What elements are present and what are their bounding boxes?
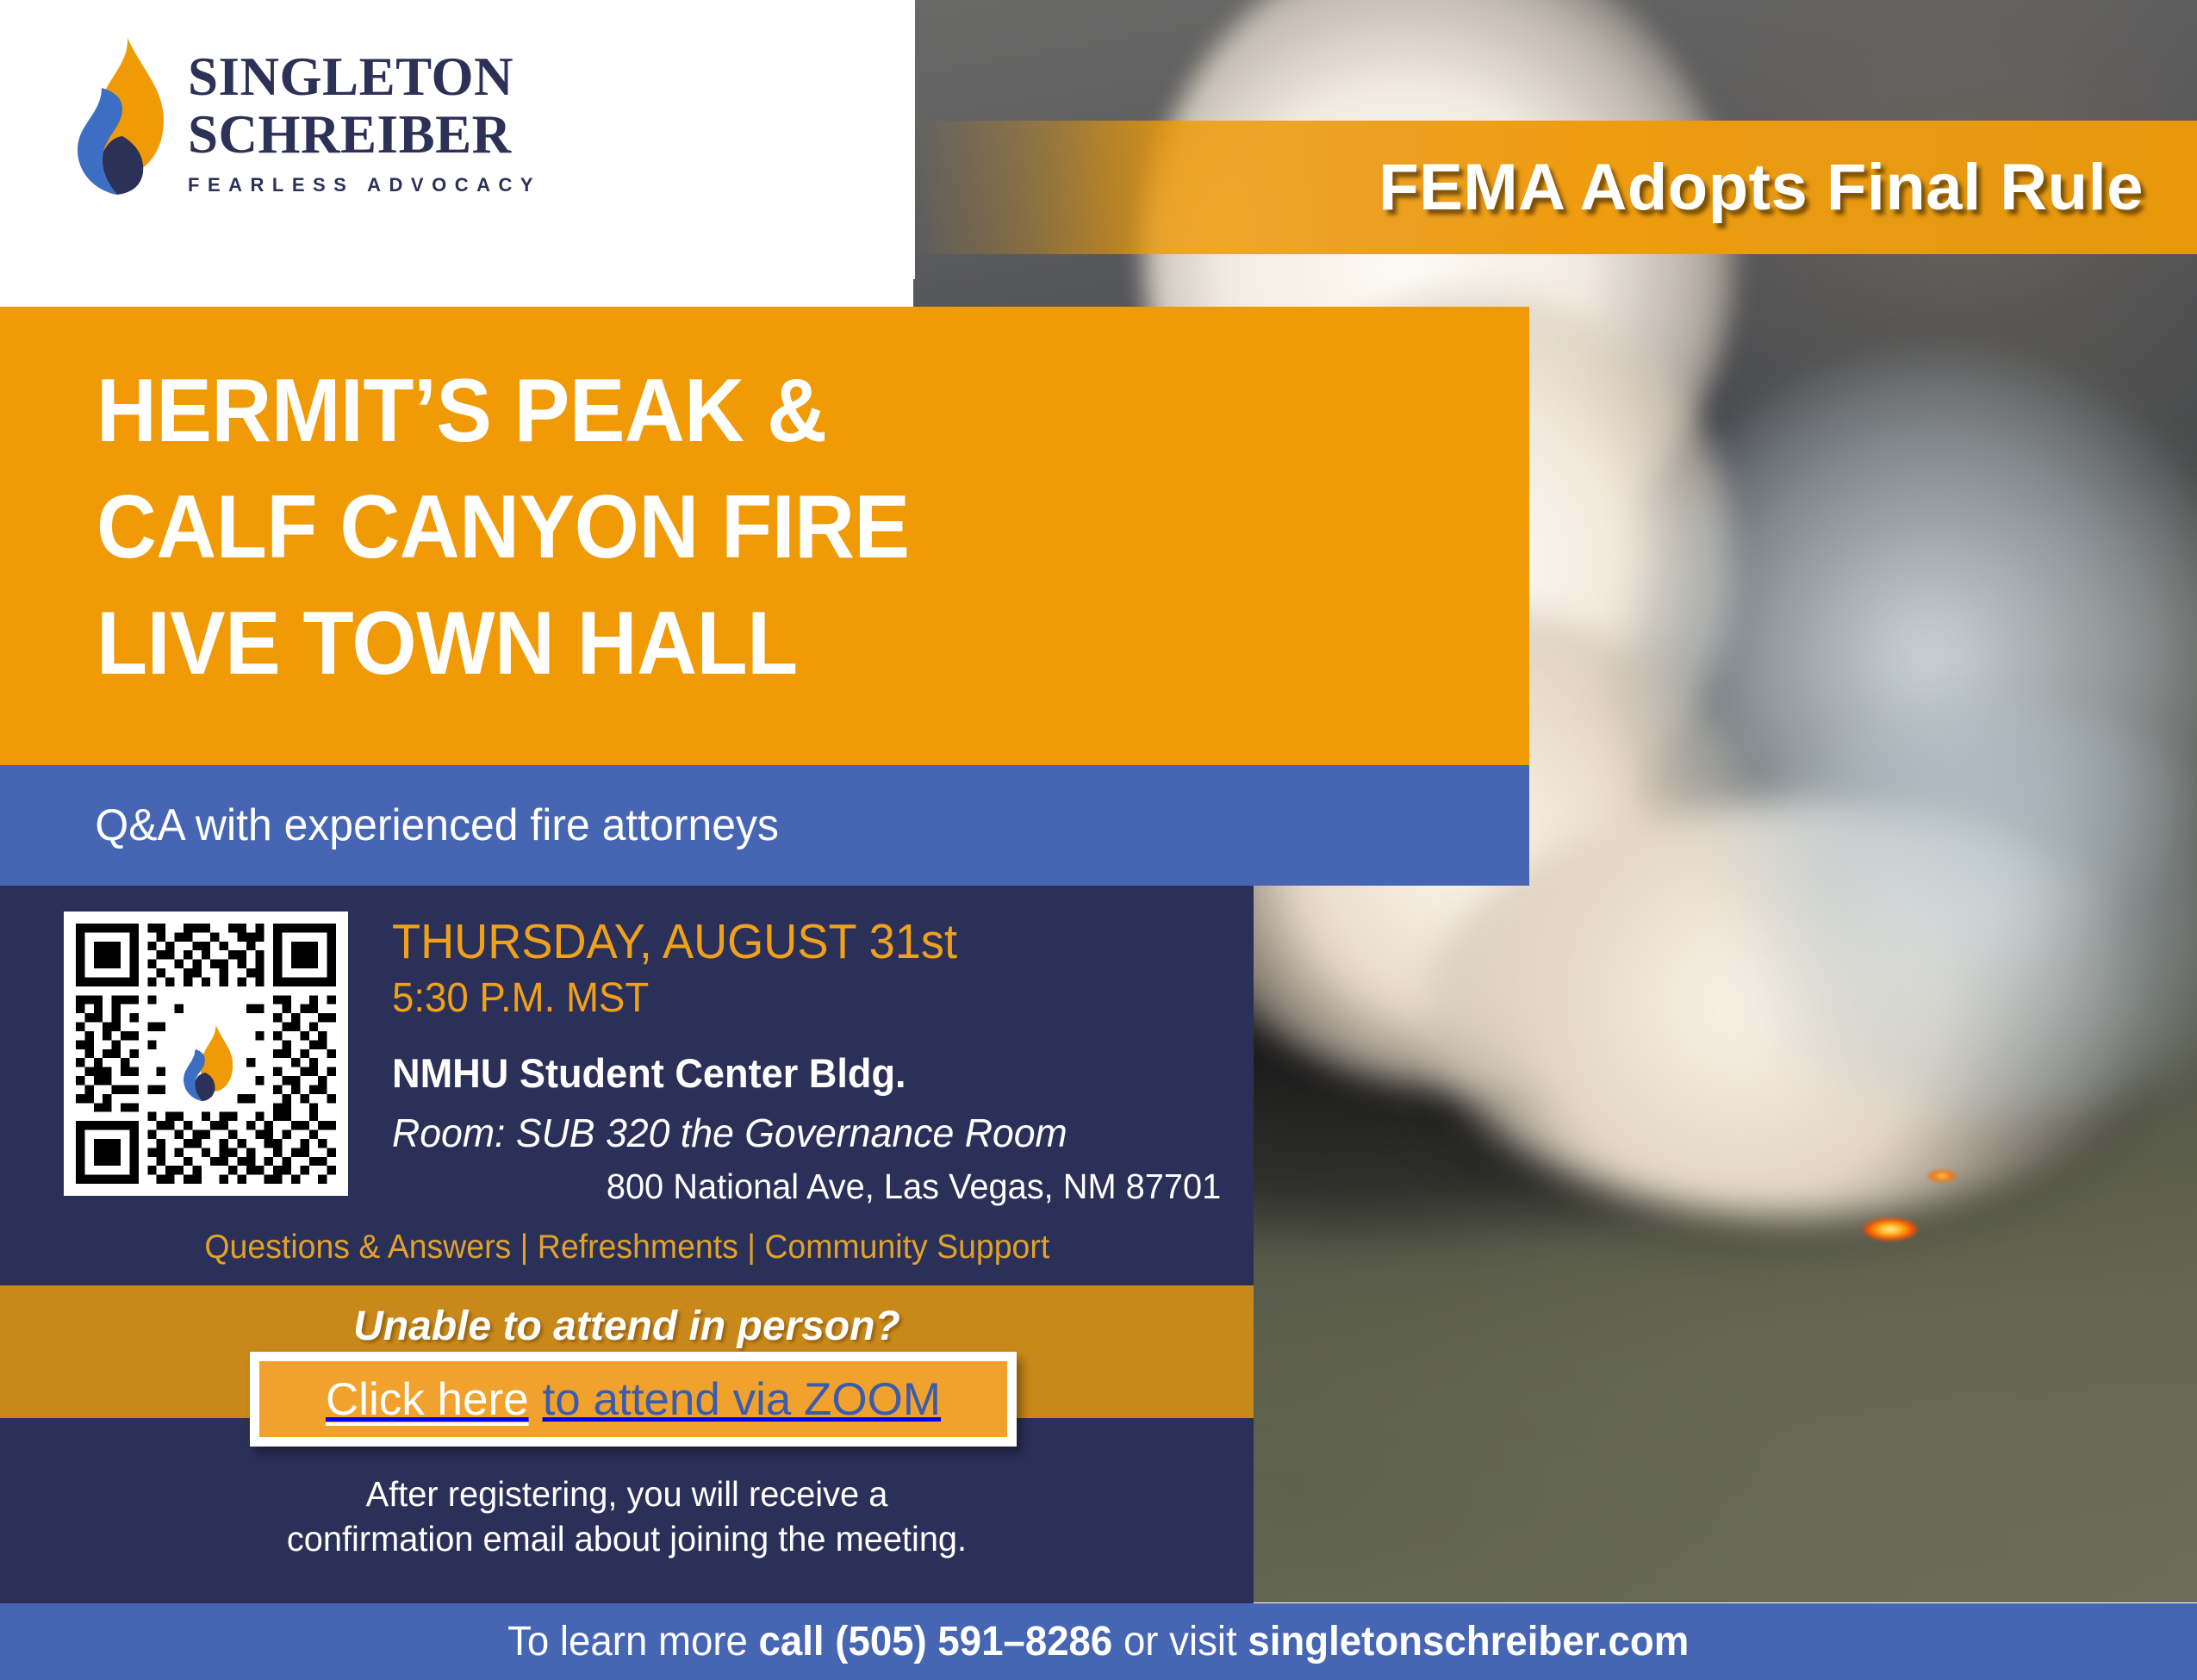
event-room: Room: SUB 320 the Governance Room — [392, 1111, 1203, 1155]
subtitle-bar: Q&A with experienced fire attorneys — [0, 765, 1529, 886]
event-features-row: Questions & Answers | Refreshments | Com… — [0, 1229, 1254, 1266]
footer-prefix: To learn more — [507, 1619, 758, 1664]
event-address: 800 National Ave, Las Vegas, NM 87701 — [417, 1167, 1228, 1206]
registration-note-line1: After registering, you will receive a — [19, 1472, 1235, 1516]
registration-note-line2: confirmation email about joining the mee… — [19, 1516, 1235, 1561]
brand-name-line2: SCHREIBER — [188, 108, 541, 162]
virtual-attendance-prompt: Unable to attend in person? — [0, 1303, 1254, 1350]
headline-line-1: HERMIT’S PEAK & — [96, 353, 1429, 470]
event-date: THURSDAY, AUGUST 31st — [392, 917, 1186, 968]
brand-logo: SINGLETON SCHREIBER FEARLESS ADVOCACY — [67, 34, 541, 196]
registration-note: After registering, you will receive a co… — [0, 1472, 1254, 1562]
headline-line-3: LIVE TOWN HALL — [96, 586, 1429, 702]
fire-hotspot-icon — [1927, 1170, 1957, 1182]
headline-line-2: CALF CANYON FIRE — [96, 470, 1429, 586]
subtitle-text: Q&A with experienced fire attorneys — [0, 800, 779, 851]
fire-hotspot-icon — [1864, 1218, 1917, 1241]
headline-block: HERMIT’S PEAK & CALF CANYON FIRE LIVE TO… — [0, 307, 1529, 765]
brand-wordmark: SINGLETON SCHREIBER FEARLESS ADVOCACY — [188, 36, 541, 195]
zoom-button-link-text[interactable]: Click here — [326, 1373, 529, 1426]
event-features-text: Questions & Answers | Refreshments | Com… — [204, 1229, 1049, 1266]
event-details-text: THURSDAY, AUGUST 31st 5:30 P.M. MST NMHU… — [392, 917, 1228, 1206]
zoom-button-rest-text: to attend via ZOOM — [543, 1373, 941, 1426]
zoom-register-button[interactable]: Click here to attend via ZOOM — [250, 1352, 1017, 1447]
event-time: 5:30 P.M. MST — [392, 974, 1186, 1022]
brand-tagline: FEARLESS ADVOCACY — [188, 176, 541, 195]
event-venue: NMHU Student Center Bldg. — [392, 1051, 1194, 1096]
fema-banner: FEMA Adopts Final Rule — [913, 121, 2197, 254]
brand-name-line1: SINGLETON — [188, 50, 541, 104]
footer-website[interactable]: singletonschreiber.com — [1248, 1619, 1690, 1664]
footer-middle: or visit — [1113, 1619, 1248, 1664]
footer-text: To learn more call (505) 591–8286 or vis… — [507, 1618, 1689, 1665]
event-details-panel: THURSDAY, AUGUST 31st 5:30 P.M. MST NMHU… — [0, 886, 1254, 1285]
footer-bar: To learn more call (505) 591–8286 or vis… — [0, 1603, 2197, 1680]
flame-logo-icon — [67, 34, 169, 196]
header-area: SINGLETON SCHREIBER FEARLESS ADVOCACY — [0, 0, 915, 279]
fema-banner-text: FEMA Adopts Final Rule — [1379, 150, 2197, 225]
registration-panel: Click here to attend via ZOOM After regi… — [0, 1418, 1254, 1603]
qr-code-icon[interactable] — [64, 912, 348, 1196]
footer-phone[interactable]: call (505) 591–8286 — [759, 1619, 1113, 1664]
